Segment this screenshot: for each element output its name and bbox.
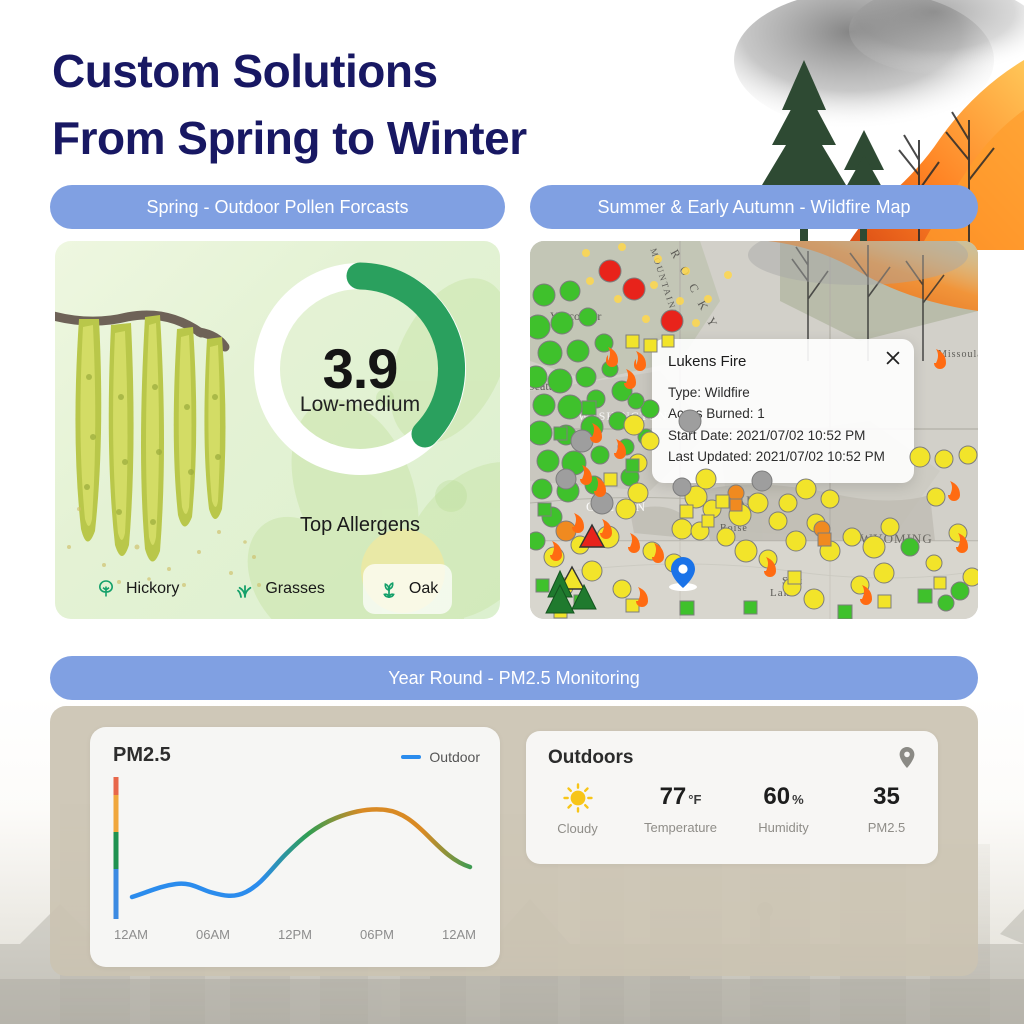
wildfire-map-card[interactable]: R O C K Y MOUNTAINS Vancouver Seattle WA… [530, 241, 978, 619]
metric-pm25: 35 PM2.5 [835, 783, 938, 836]
plant-icon [377, 577, 401, 601]
metric-value: 77 [660, 783, 687, 810]
allergen-chip-oak[interactable]: Oak [363, 564, 452, 614]
tree-icon [94, 577, 118, 601]
metric-unit: % [792, 792, 804, 807]
grass-icon [233, 577, 257, 601]
outdoors-title: Outdoors [548, 747, 634, 769]
sun-icon [562, 782, 594, 814]
allergen-chip-grasses[interactable]: Grasses [219, 564, 339, 614]
metric-weather: Cloudy [526, 783, 629, 836]
metric-humidity: 60% Humidity [732, 783, 835, 836]
outdoors-metrics: Cloudy 77°F Temperature 60% Humidity 35 … [526, 783, 938, 836]
chart-legend: Outdoor [401, 749, 480, 765]
legend-swatch-outdoor [401, 755, 421, 759]
x-tick-2: 12PM [254, 927, 336, 942]
metric-value: 35 [873, 783, 900, 810]
allergen-chip-hickory[interactable]: Hickory [80, 564, 193, 614]
metric-label: Temperature [629, 820, 732, 835]
page-title-line-2: From Spring to Winter [52, 105, 527, 172]
pm25-chart-card[interactable]: PM2.5 Outdoor 12AM 06AM 12PM [90, 727, 500, 967]
pollen-index-label: Low-medium [240, 393, 480, 417]
x-tick-4: 12AM [418, 927, 500, 942]
metric-label: PM2.5 [835, 820, 938, 835]
metric-label: Cloudy [526, 821, 629, 836]
x-tick-0: 12AM [90, 927, 172, 942]
allergen-label: Grasses [265, 580, 325, 598]
top-allergens-heading: Top Allergens [240, 514, 480, 537]
map-sensor-markers[interactable] [530, 241, 978, 619]
outdoors-conditions-card[interactable]: Outdoors Cloudy 77°F Temperature 60% Hum… [526, 731, 938, 864]
page-title: Custom Solutions From Spring to Winter [52, 38, 527, 171]
chart-title: PM2.5 [113, 744, 171, 767]
legend-label-outdoor: Outdoor [429, 749, 480, 765]
section-header-year-round[interactable]: Year Round - PM2.5 Monitoring [50, 656, 978, 700]
x-tick-3: 06PM [336, 927, 418, 942]
pm25-line-chart [90, 772, 500, 927]
metric-unit: °F [688, 792, 701, 807]
section-header-spring[interactable]: Spring - Outdoor Pollen Forcasts [50, 185, 505, 229]
metric-value: 60 [763, 783, 790, 810]
map-location-pin [669, 557, 697, 591]
pollen-index-value: 3.9 [240, 336, 480, 401]
metric-temperature: 77°F Temperature [629, 783, 732, 836]
section-header-summer[interactable]: Summer & Early Autumn - Wildfire Map [530, 185, 978, 229]
pollen-forecast-card[interactable]: 3.9 Low-medium Top Allergens Hickory Gra… [55, 241, 500, 619]
location-pin-icon[interactable] [898, 747, 916, 769]
page-title-line-1: Custom Solutions [52, 38, 527, 105]
x-tick-1: 06AM [172, 927, 254, 942]
chart-x-axis-labels: 12AM 06AM 12PM 06PM 12AM [90, 927, 500, 942]
metric-label: Humidity [732, 820, 835, 835]
allergen-label: Oak [409, 580, 438, 598]
allergen-label: Hickory [126, 580, 179, 598]
allergen-chip-list: Hickory Grasses Oak [55, 559, 500, 619]
